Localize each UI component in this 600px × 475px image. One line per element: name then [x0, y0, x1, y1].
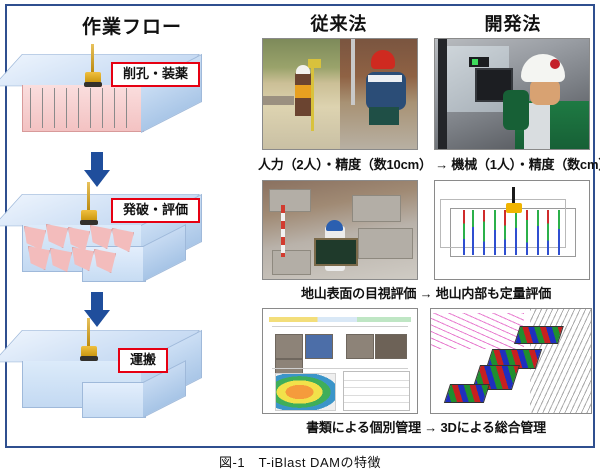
image-paper-report-sheet [263, 309, 417, 413]
comparison-header-conventional: 従来法 [264, 10, 414, 36]
comparison-caption-3: 書類による個別管理 → 3Dによる総合管理 [258, 417, 594, 436]
photo-cell-machine-cabin [434, 38, 590, 150]
work-flow-panel: 作業フロー 削孔・装薬 [8, 4, 256, 440]
photo-cell-surveying [262, 38, 418, 150]
photo-worker-crouching [340, 39, 417, 149]
work-flow-title: 作業フロー [8, 12, 256, 39]
comparison-header-developed: 開発法 [438, 10, 588, 36]
rock-block-3 [22, 330, 212, 430]
diagram-3d-borehole-box [435, 181, 589, 279]
block-step-notch [82, 382, 146, 418]
comparison-row-2: 地山表面の目視評価 → 地山内部も定量評価 [258, 180, 594, 306]
blasted-rock-wedges [22, 222, 140, 274]
comparison-caption-2: 地山表面の目視評価 → 地山内部も定量評価 [258, 283, 594, 302]
document-cell-paper-report [262, 308, 418, 414]
comparison-row-3: 書類による個別管理 → 3Dによる総合管理 [258, 308, 594, 436]
photo-cell-rock-face [262, 180, 418, 280]
flow-stage-2: 発破・評価 [8, 186, 256, 298]
model-cell-3d-terrain [430, 308, 592, 414]
photo-operator-in-cabin [435, 39, 589, 149]
comparison-panel: 従来法 開発法 [258, 4, 594, 440]
drill-machine-icon [80, 318, 98, 364]
flow-stage-2-label: 発破・評価 [111, 198, 200, 223]
drill-machine-icon [80, 182, 98, 228]
flow-stage-3: 運搬 [8, 322, 256, 434]
comparison-caption-1: 人力（2人）・精度（数10cm） → 機械（1人）・精度（数cm） [258, 154, 594, 173]
figure-caption: 図-1 T-iBlast DAMの特徴 [0, 452, 600, 471]
excavator-icon [506, 187, 522, 217]
comparison-headers: 従来法 開発法 [258, 10, 594, 36]
comparison-row-1: 人力（2人）・精度（数10cm） → 機械（1人）・精度（数cm） [258, 38, 594, 178]
flow-stage-1-label: 削孔・装薬 [111, 62, 200, 87]
diagram-cell-3d-boreholes [434, 180, 590, 280]
drill-holes [28, 88, 136, 130]
flow-stage-1: 削孔・装薬 [8, 46, 256, 158]
photo-surveyor-with-tripod [263, 39, 341, 149]
drill-machine-icon [84, 44, 102, 90]
image-3d-terrain-model [431, 309, 591, 413]
figure-root: 作業フロー 削孔・装薬 [0, 0, 600, 475]
photo-blasted-rock-face [263, 181, 417, 279]
flow-stage-3-label: 運搬 [118, 348, 168, 373]
